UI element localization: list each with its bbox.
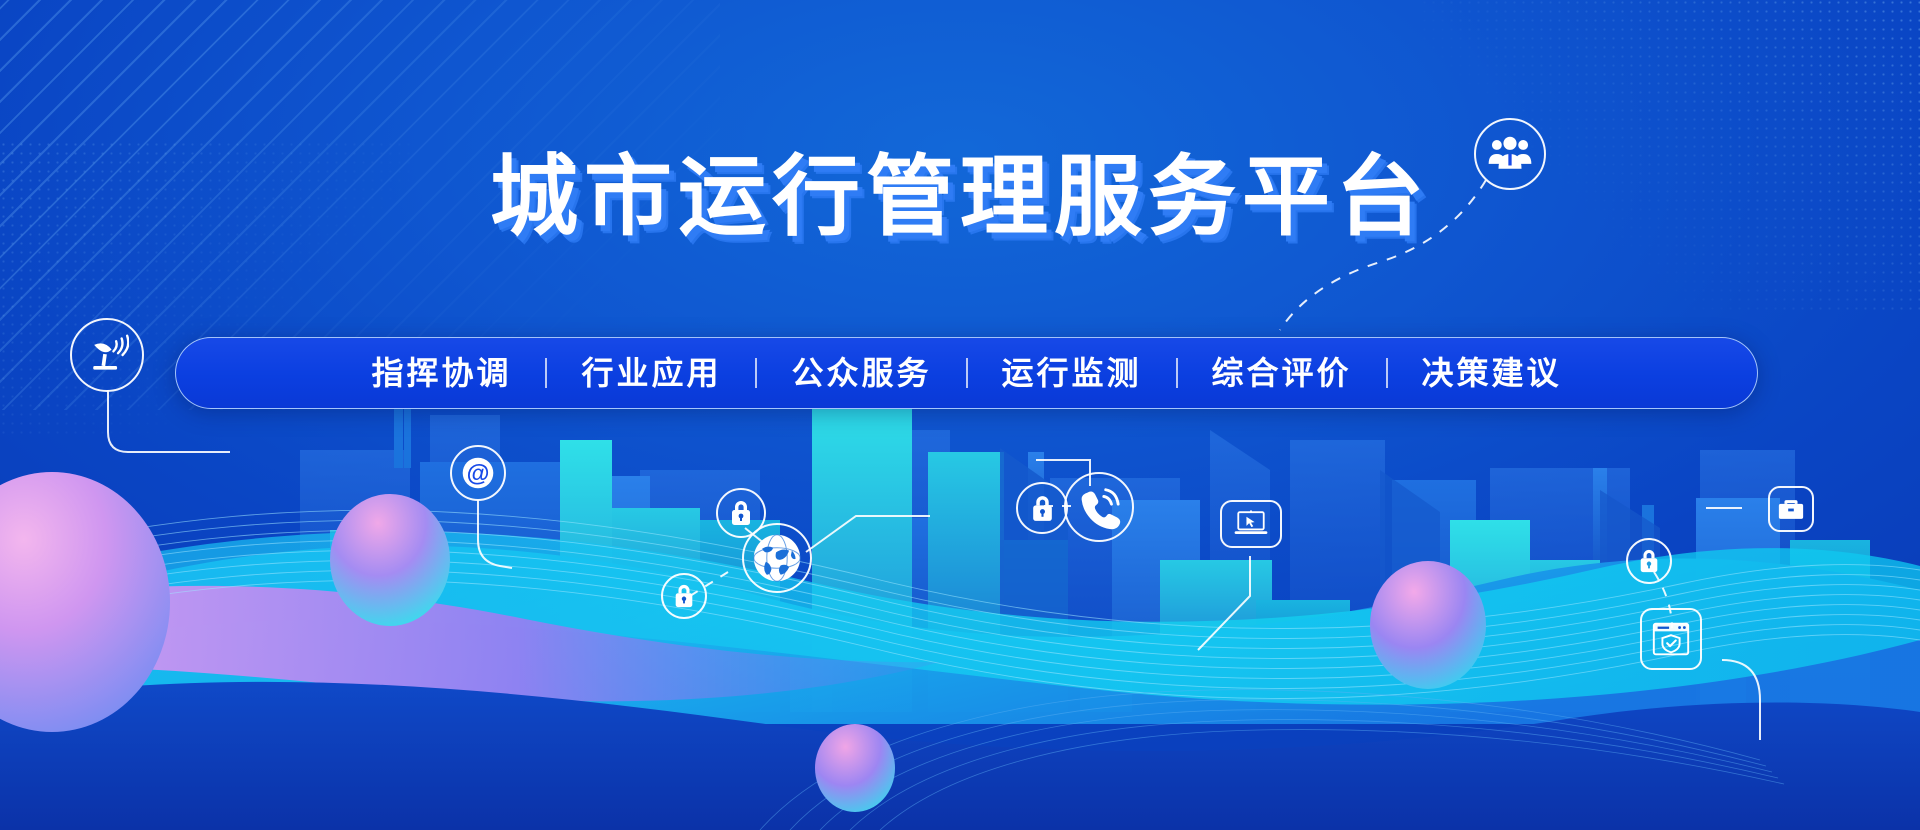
nav-item-public-service[interactable]: 公众服务: [757, 357, 965, 389]
icon-connector-lines: [0, 0, 1920, 830]
browser-shield-icon[interactable]: [1640, 608, 1702, 670]
laptop-cursor-glyph: [1231, 509, 1271, 539]
svg-text:@: @: [467, 460, 490, 486]
satellite-dish-icon[interactable]: [70, 318, 144, 392]
lock-icon[interactable]: [1626, 538, 1672, 584]
people-group-icon[interactable]: [1474, 118, 1546, 190]
nav-item-comprehensive-evaluation[interactable]: 综合评价: [1178, 357, 1386, 389]
nav-item-operation-monitoring[interactable]: 运行监测: [968, 357, 1176, 389]
satellite-dish-glyph: [85, 333, 129, 377]
at-symbol-glyph: @: [460, 455, 496, 491]
lock-glyph: [728, 499, 754, 527]
lock-glyph: [1029, 494, 1056, 523]
lock-glyph: [1637, 548, 1661, 574]
nav-item-decision-suggestion[interactable]: 决策建议: [1388, 357, 1596, 389]
laptop-cursor-icon[interactable]: [1220, 500, 1282, 548]
primary-navigation-bar[interactable]: 指挥协调 行业应用 公众服务 运行监测 综合评价 决策建议: [175, 337, 1758, 409]
phone-signal-glyph: [1076, 484, 1122, 530]
at-symbol-icon[interactable]: @: [450, 445, 506, 501]
lock-icon[interactable]: [661, 573, 707, 619]
page-title: 城市运行管理服务平台: [490, 150, 1430, 243]
nav-item-command-coordination[interactable]: 指挥协调: [337, 357, 545, 389]
lock-icon[interactable]: [1016, 482, 1068, 534]
briefcase-glyph: [1777, 497, 1805, 522]
briefcase-icon[interactable]: [1768, 486, 1814, 532]
banner-title-wrap: 城市运行管理服务平台: [0, 150, 1920, 243]
globe-glyph: [751, 532, 803, 584]
lock-glyph: [672, 583, 696, 609]
city-skyline-illustration: [0, 0, 1920, 830]
city-platform-banner: 城市运行管理服务平台 指挥协调 行业应用 公众服务 运行监测 综合评价 决策建议: [0, 0, 1920, 830]
globe-icon[interactable]: [742, 523, 812, 593]
nav-item-industry-application[interactable]: 行业应用: [547, 357, 755, 389]
people-group-glyph: [1487, 134, 1533, 174]
wave-decoration: [0, 0, 1920, 830]
browser-shield-glyph: [1650, 618, 1692, 660]
phone-signal-icon[interactable]: [1064, 472, 1134, 542]
